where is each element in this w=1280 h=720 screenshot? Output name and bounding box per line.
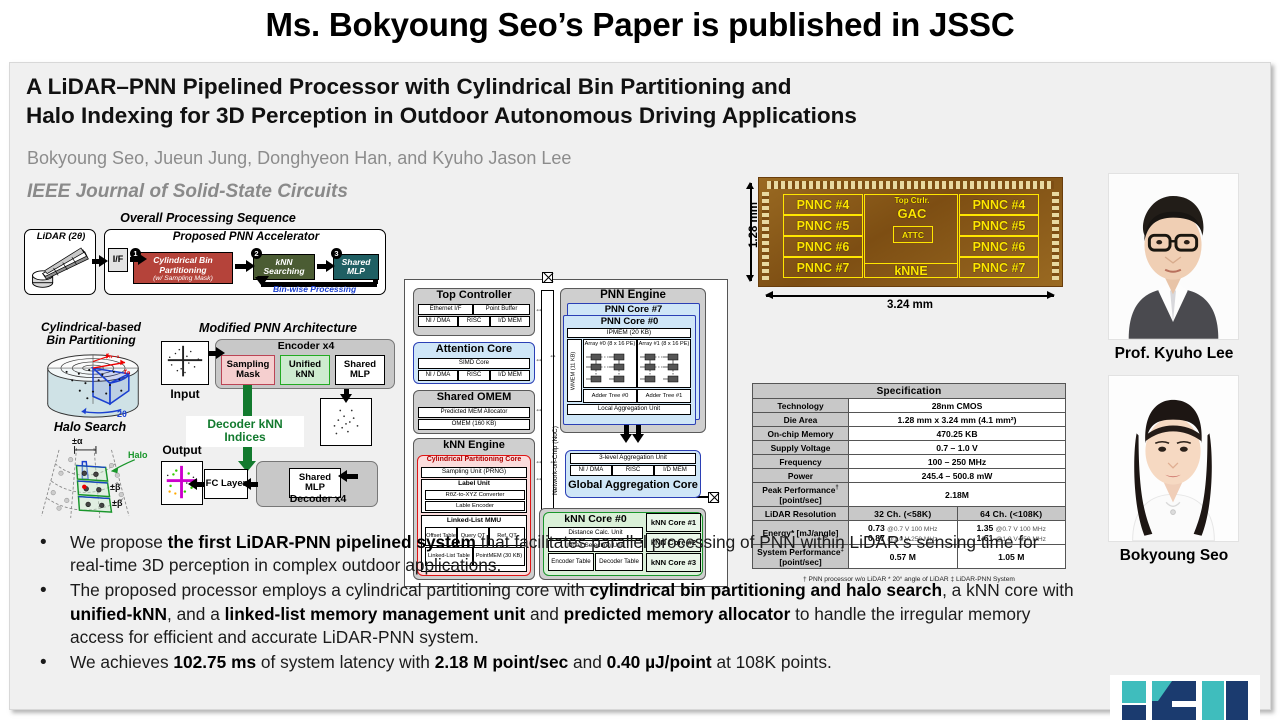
table-row: Technology28nm CMOS [753,399,1066,413]
attention-core-noc-link: ⇔ [535,356,543,364]
pnn-engine-title: PNN Engine [560,289,706,301]
decoder-knn-indices-text: Decoder kNN Indices [186,418,304,445]
paper-authors: Bokyoung Seo, Jueun Jung, Donghyeon Han,… [27,148,571,169]
bullet-text: We propose [70,532,168,552]
noc-port-right-icon [708,492,719,503]
arrow-fc-output [196,482,204,487]
feedback-arrowhead [255,277,267,285]
slide-title: Ms. Bokyoung Seo’s Paper is published in… [0,6,1280,44]
gac-nidma: NI / DMA [570,465,612,476]
decoder-group: Shared MLP Decoder x4 [256,461,378,507]
attention-core-cell-risc: RISC [458,370,490,381]
pnn-array-1-label: Array #1 (8 x 16 PE) [638,341,690,347]
pnn-array-0-label: Array #0 (8 x 16 PE) [584,341,636,347]
badge-2: 2 [251,248,262,259]
encoder-label: Encoder x4 [216,341,396,352]
arrow-step2-step3 [317,264,327,269]
bullet-emphasis: linked-list memory management unit [225,604,526,624]
die-block-left-pnnc6: PNNC #6 [783,236,863,257]
person-name-bokyoung-seo: Bokyoung Seo [1074,547,1274,565]
cyl-caption-line2: Bin Partitioning [22,334,160,347]
bullet-text: , and a [167,604,225,624]
sampling-mask-label: Sampling Mask [222,360,274,380]
bullet-emphasis: 0.40 µJ/point [607,652,712,672]
encoder-shared-mlp-label: Shared MLP [336,360,384,380]
arrow-decoder-fc [250,482,258,487]
gac-noc-link: ⇔ [549,458,557,466]
step-cylindrical-bin-partitioning: Cylindrical Bin Partitioning (w/ Samplin… [133,252,233,284]
attention-core-title: Attention Core [413,343,535,355]
die-knne-label: kNNE [864,263,958,278]
spec-value-power: 245.4 – 500.8 mW [849,469,1066,483]
top-controller-cell-pointbuffer: Point Buffer [473,304,530,315]
label-unit-group: Label Unit RθZ-to-XYZ Converter Lable En… [421,479,527,513]
badge-1: 1 [130,248,141,259]
label-unit-title: Label Unit [422,481,526,488]
poster-card: A LiDAR–PNN Pipelined Processor with Cyl… [9,62,1271,710]
die-gac-label: GAC [865,206,959,221]
knn-engine-noc-link2: ⇔ [535,475,543,483]
label-beta-1: ±β [110,482,120,492]
pnn-ipmem: IPMEM (20 KB) [567,328,691,338]
bullet-text: at 108K points. [712,652,832,672]
pnn-noc-link: ⇔ [549,352,557,360]
unified-knn-box: Unified kNN [280,355,330,385]
bullet-emphasis: 102.75 ms [173,652,256,672]
top-controller-title: Top Controller [413,289,535,301]
top-controller-cell-risc: RISC [458,316,490,327]
label-halo: Halo [128,450,148,460]
mid-pointcloud-plot [321,399,371,445]
arrow-lidar-if [92,259,100,264]
spec-title: Specification [753,384,1066,399]
table-row: Die Area1.28 mm x 3.24 mm (4.1 mm²) [753,413,1066,427]
spec-label-memory: On-chip Memory [753,427,849,441]
attention-core-cell-idmem: I/D MEM [490,370,530,381]
decoder-label: Decoder x4 [257,494,379,505]
spec-resolution-64: 64 Ch. (<108K) [957,507,1066,521]
label-unit-encoder: Lable Encoder [425,501,525,511]
die-block-right-pnnc5: PNNC #5 [959,215,1039,236]
die-attc-label: ATTC [893,226,933,243]
spec-label-power: Power [753,469,849,483]
feedback-riser [373,280,378,284]
encoder-shared-mlp-box: Shared MLP [335,355,385,385]
pnn-array-1: Array #1 (8 x 16 PE) [637,339,691,388]
sampling-mask-box: Sampling Mask [221,355,275,385]
gac-title: Global Aggregation Core [565,479,701,491]
shared-omem-cell-omem: OMEM (160 KB) [418,419,530,430]
pnn-core-0-title: PNN Core #0 [563,316,696,327]
knn-core-0-title: kNN Core #0 [543,513,648,525]
die-block-center: Top Ctrlr. GAC ATTC [864,194,958,263]
lidar-label: LiDAR (2θ) [29,232,93,242]
knn-engine-title: kNN Engine [413,439,535,451]
label-rn-1: rₙ₋₁ [106,351,120,360]
top-controller-noc-link: ⇔ [535,306,543,314]
mmu-title: Linked-List MMU [422,517,526,524]
cp-sampling-unit: Sampling Unit (PRNG) [421,467,527,478]
die-block-left-pnnc5: PNNC #5 [783,215,863,236]
fc-layer-label: FC Layer [206,479,247,489]
bullet-emphasis: 2.18 M point/sec [435,652,569,672]
photo-kyuho-lee [1108,173,1239,340]
spec-value-voltage: 0.7 – 1.0 V [849,441,1066,455]
attention-core-cell-nidma: NI / DMA [418,370,458,381]
mid-pointcloud [320,398,372,446]
gac-risc: RISC [612,465,654,476]
spec-label-voltage: Supply Voltage [753,441,849,455]
knn-core-1: kNN Core #1 [646,513,701,532]
shared-omem-noc-link: ⇔ [535,406,543,414]
step3-label: Shared MLP [334,258,378,276]
list-item: We achieves 102.75 ms of system latency … [28,651,1074,674]
die-block-left-pnnc4: PNNC #4 [783,194,863,215]
bullet-emphasis: the first LiDAR-PNN pipelined system [168,532,476,552]
table-row: Peak Performance† [point/sec] 2.18M [753,483,1066,507]
shared-omem-title: Shared OMEM [413,391,535,403]
spec-value-frequency: 100 – 250 MHz [849,455,1066,469]
paper-title: A LiDAR–PNN Pipelined Processor with Cyl… [26,73,1236,131]
cyl-caption-line1: Cylindrical-based [22,321,160,334]
die-block-right-pnnc6: PNNC #6 [959,236,1039,257]
paper-title-line1: A LiDAR–PNN Pipelined Processor with Cyl… [26,73,1236,102]
paper-title-line2: Halo Indexing for 3D Perception in Outdo… [26,102,1236,131]
spec-label-technology: Technology [753,399,849,413]
cylinder-illustration [27,349,159,423]
bullet-text: and [525,604,563,624]
arrow-encoder-mid [344,389,349,395]
input-label: Input [158,387,212,401]
person-name-kyuho-lee: Prof. Kyuho Lee [1074,345,1274,363]
bullet-text: The proposed processor employs a cylindr… [70,580,590,600]
lidar-box: LiDAR (2θ) [24,229,96,295]
input-pointcloud-plot [162,342,208,384]
output-label: Output [158,443,206,457]
die-pads-top [767,181,1054,189]
feedback-label: Bin-wise Processing [273,285,356,294]
photo-bokyoung-seo-image [1109,376,1238,541]
pnn-array-0: Array #0 (8 x 16 PE) [583,339,637,388]
label-beta-2: ±β [112,498,122,508]
peak-dagger: † [835,485,838,491]
die-photo-container: PNNC #4 PNNC #5 PNNC #6 PNNC #7 PNNC #4 … [740,173,1070,313]
gac-idmem: I/D MEM [654,465,696,476]
photo-bokyoung-seo [1108,375,1239,542]
spec-label-peak-performance: Peak Performance† [point/sec] [753,483,849,507]
bullet-emphasis: predicted memory allocator [564,604,791,624]
isl-logo-image [1110,675,1260,720]
interface-label: I/F [113,255,124,264]
arrow-mid-decoder [346,474,358,479]
arrow-pnn-gac-2 [636,425,641,435]
spec-value-peak-performance: 2.18M [849,483,1066,507]
pnn-adder-tree-0: Adder Tree #0 [583,389,637,403]
lidar-illustration [28,246,92,292]
spec-label-diearea: Die Area [753,413,849,427]
photo-kyuho-lee-image [1109,174,1238,339]
pnn-arch-caption: Modified PNN Architecture [158,321,398,335]
figure-sequence-caption: Overall Processing Sequence [38,211,378,225]
spec-value-technology: 28nm CMOS [849,399,1066,413]
input-pointcloud [161,341,209,385]
label-2theta: 2θ [117,409,127,419]
label-rn: rₙ [124,367,130,376]
bullet-text: of system latency with [256,652,435,672]
die-pads-right [1052,192,1059,280]
bullet-emphasis: cylindrical bin partitioning and halo se… [590,580,942,600]
badge-3: 3 [331,248,342,259]
gac-3level-agg: 3-level Aggregation Unit [570,453,696,464]
arrow-step1-step2 [235,264,247,269]
figure-modified-pnn: Modified PNN Architecture Input Encoder … [158,321,398,526]
die-pads-left [762,192,769,280]
top-controller-cell-nidma: NI / DMA [418,316,458,327]
top-controller-cell-ethernet: Ethernet I/F [418,304,473,315]
pe-array-0-grid [584,352,638,386]
shared-omem-cell-allocator: Predicted MEM Allocator [418,407,530,418]
bullet-list: We propose the first LiDAR-PNN pipelined… [28,531,1074,676]
cp-core-title: Cylindrical Partitioning Core [417,456,531,463]
figure-cylindrical-partitioning: Cylindrical-based Bin Partitioning [22,321,162,421]
spec-label-resolution: LiDAR Resolution [753,507,849,521]
step-shared-mlp: Shared MLP [333,254,379,280]
table-row: Power245.4 – 500.8 mW [753,469,1066,483]
label-unit-converter: RθZ-to-XYZ Converter [425,490,525,500]
peak-unit: [point/sec] [779,495,821,505]
table-row: Frequency100 – 250 MHz [753,455,1066,469]
die-top-ctrl-label: Top Ctrlr. [865,196,959,205]
table-row: LiDAR Resolution 32 Ch. (<58K) 64 Ch. (<… [753,507,1066,521]
encoder-group: Encoder x4 Sampling Mask Unified kNN Sha… [215,339,395,389]
paper-journal: IEEE Journal of Solid-State Circuits [27,181,348,203]
pnn-adder-tree-1: Adder Tree #1 [637,389,691,403]
bullet-text: and [568,652,606,672]
die-block-left-pnnc7: PNNC #7 [783,257,863,278]
step1-sublabel: (w/ Sampling Mask) [134,275,232,282]
bullet-text: , a kNN core with [942,580,1074,600]
halo-caption: Halo Search [24,420,156,434]
interface-box: I/F [108,248,128,272]
die-block-right-pnnc4: PNNC #4 [959,194,1039,215]
list-item: We propose the first LiDAR-PNN pipelined… [28,531,1074,577]
top-controller-cell-idmem: I/D MEM [490,316,530,327]
pe-array-1-grid [638,352,692,386]
isl-logo [1110,675,1260,720]
table-row-header: Specification [753,384,1066,399]
pnn-wmem-label: WMEM (11 KB) [572,351,578,389]
die-photo: PNNC #4 PNNC #5 PNNC #6 PNNC #7 PNNC #4 … [758,177,1063,287]
slide-root: Ms. Bokyoung Seo’s Paper is published in… [0,0,1280,720]
table-row: Supply Voltage0.7 – 1.0 V [753,441,1066,455]
decoder-shared-mlp-label: Shared MLP [290,473,340,493]
noc-port-top-icon [542,272,553,283]
cyl-caption: Cylindrical-based Bin Partitioning [22,321,160,348]
arrow-pnn-gac-1 [624,425,629,435]
attention-core-cell-simd: SIMD Core [418,358,530,369]
figure-halo-search: Halo Search [24,420,164,530]
step2-label: kNN Searching [254,258,314,276]
die-width-arrow [766,295,1054,297]
spec-value-diearea: 1.28 mm x 3.24 mm (4.1 mm²) [849,413,1066,427]
bullet-emphasis: unified-kNN [70,604,167,624]
table-row: On-chip Memory470.25 KB [753,427,1066,441]
figure-overall-sequence: Overall Processing Sequence LiDAR (2θ) P… [18,211,393,301]
peak-label: Peak Performance [762,485,835,495]
step1-label: Cylindrical Bin Partitioning [134,253,232,275]
arrow-input-encoder [209,351,217,356]
die-width-label: 3.24 mm [766,299,1054,311]
label-alpha: ±α [72,436,82,446]
knn-engine-noc-link1: ⇔ [535,458,543,466]
spec-label-frequency: Frequency [753,455,849,469]
pnn-core-7-title: PNN Core #7 [567,304,700,315]
pnn-wmem: WMEM (11 KB) [567,339,582,402]
bullet-text: We achieves [70,652,173,672]
accelerator-label: Proposed PNN Accelerator [105,232,387,244]
die-block-right-pnnc7: PNNC #7 [959,257,1039,278]
unified-knn-label: Unified kNN [281,360,329,380]
pnn-local-aggregation: Local Aggregation Unit [567,404,691,415]
spec-resolution-32: 32 Ch. (<58K) [849,507,958,521]
die-height-label: 1.28 mm [748,177,760,273]
spec-value-memory: 470.25 KB [849,427,1066,441]
list-item: The proposed processor employs a cylindr… [28,579,1074,649]
